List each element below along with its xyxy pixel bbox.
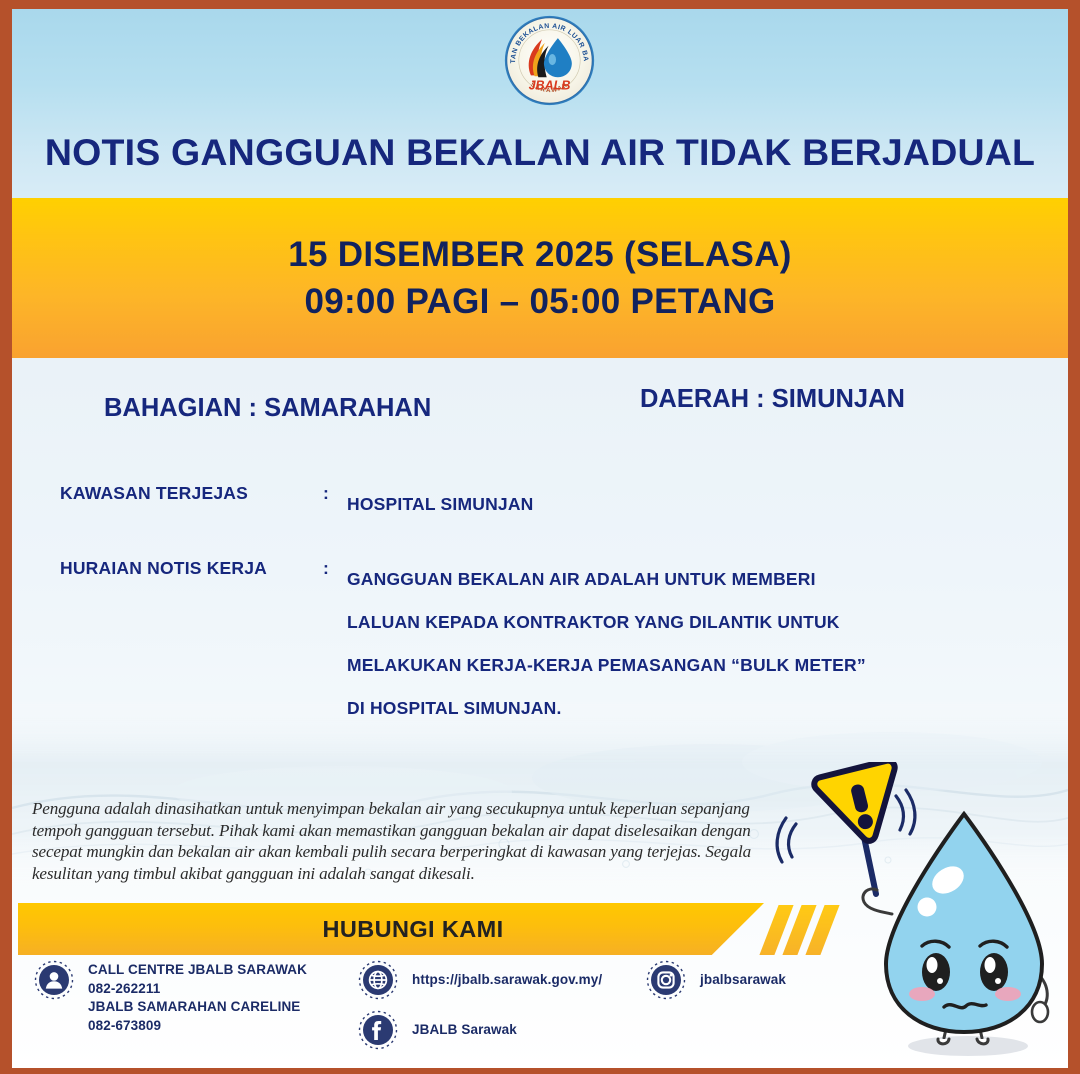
- contact-item-call-centre[interactable]: CALL CENTRE JBALB SARAWAK 082-262211 JBA…: [34, 960, 307, 1035]
- advisory-paragraph: Pengguna adalah dinasihatkan untuk menyi…: [32, 798, 777, 884]
- kawasan-terjejas-value: HOSPITAL SIMUNJAN: [347, 483, 534, 526]
- contact-facebook-text: JBALB Sarawak: [412, 1010, 517, 1040]
- huraian-line-1: GANGGUAN BEKALAN AIR ADALAH UNTUK MEMBER…: [347, 558, 866, 601]
- contact-instagram-text: jbalbsarawak: [700, 960, 786, 990]
- instagram-icon: [646, 960, 686, 1000]
- contact-band-title: HUBUNGI KAMI: [322, 916, 503, 943]
- huraian-notis-kerja-label: HURAIAN NOTIS KERJA: [60, 558, 267, 579]
- globe-icon: [358, 960, 398, 1000]
- frame-border-left: [0, 0, 12, 1074]
- svg-text:JBALB: JBALB: [529, 78, 571, 92]
- jbalb-logo-svg: JABATAN BEKALAN AIR LUAR BANDAR SARAWAK …: [503, 14, 596, 107]
- contact-website-text: https://jbalb.sarawak.gov.my/: [412, 960, 602, 990]
- frame-border-top: [0, 0, 1080, 9]
- jbalb-logo: JABATAN BEKALAN AIR LUAR BANDAR SARAWAK …: [503, 14, 596, 107]
- bahagian-label: BAHAGIAN : SAMARAHAN: [104, 394, 431, 423]
- huraian-line-4: DI HOSPITAL SIMUNJAN.: [347, 687, 866, 730]
- huraian-notis-kerja-value: GANGGUAN BEKALAN AIR ADALAH UNTUK MEMBER…: [347, 558, 866, 730]
- notice-poster: JABATAN BEKALAN AIR LUAR BANDAR SARAWAK …: [0, 0, 1080, 1074]
- frame-border-right: [1068, 0, 1080, 1074]
- notice-date: 15 DISEMBER 2025 (SELASA): [288, 234, 791, 275]
- content-body: BAHAGIAN : SAMARAHAN DAERAH : SIMUNJAN K…: [12, 358, 1068, 1068]
- page-title: NOTIS GANGGUAN BEKALAN AIR TIDAK BERJADU…: [12, 131, 1068, 174]
- contact-band-wrap: HUBUNGI KAMI: [12, 903, 1068, 955]
- huraian-line-3: MELAKUKAN KERJA-KERJA PEMASANGAN “BULK M…: [347, 644, 866, 687]
- motion-lines-left: [777, 818, 796, 862]
- motion-lines-right: [896, 790, 915, 834]
- contact-item-instagram[interactable]: jbalbsarawak: [646, 960, 786, 1000]
- daerah-label: DAERAH : SIMUNJAN: [640, 385, 905, 414]
- huraian-line-2: LALUAN KEPADA KONTRAKTOR YANG DILANTIK U…: [347, 601, 866, 644]
- mascot-highlight-1: [927, 861, 969, 899]
- call-centre-line-2: 082-262211: [88, 980, 307, 999]
- contact-list: CALL CENTRE JBALB SARAWAK 082-262211 JBA…: [12, 960, 1068, 1068]
- region-row: BAHAGIAN : SAMARAHAN DAERAH : SIMUNJAN: [12, 394, 1068, 440]
- notice-time-range: 09:00 PAGI – 05:00 PETANG: [304, 281, 775, 322]
- kawasan-terjejas-line-1: HOSPITAL SIMUNJAN: [347, 483, 534, 526]
- contact-band: HUBUNGI KAMI: [18, 903, 764, 955]
- call-centre-line-1: CALL CENTRE JBALB SARAWAK: [88, 961, 307, 980]
- kawasan-terjejas-label: KAWASAN TERJEJAS: [60, 483, 248, 504]
- contact-item-website[interactable]: https://jbalb.sarawak.gov.my/: [358, 960, 602, 1000]
- facebook-icon: [358, 1010, 398, 1050]
- contact-item-facebook[interactable]: JBALB Sarawak: [358, 1010, 517, 1050]
- frame-border-bottom: [0, 1068, 1080, 1074]
- huraian-notis-kerja-colon: :: [323, 558, 329, 579]
- call-centre-line-3: JBALB SAMARAHAN CARELINE: [88, 998, 307, 1017]
- date-band: 15 DISEMBER 2025 (SELASA) 09:00 PAGI – 0…: [12, 198, 1068, 358]
- person-icon: [34, 960, 74, 1000]
- warning-exclamation-sign: [813, 762, 911, 851]
- sign-pole: [860, 818, 876, 894]
- contact-call-centre-text: CALL CENTRE JBALB SARAWAK 082-262211 JBA…: [88, 960, 307, 1035]
- kawasan-terjejas-colon: :: [323, 483, 329, 504]
- call-centre-line-4: 082-673809: [88, 1017, 307, 1036]
